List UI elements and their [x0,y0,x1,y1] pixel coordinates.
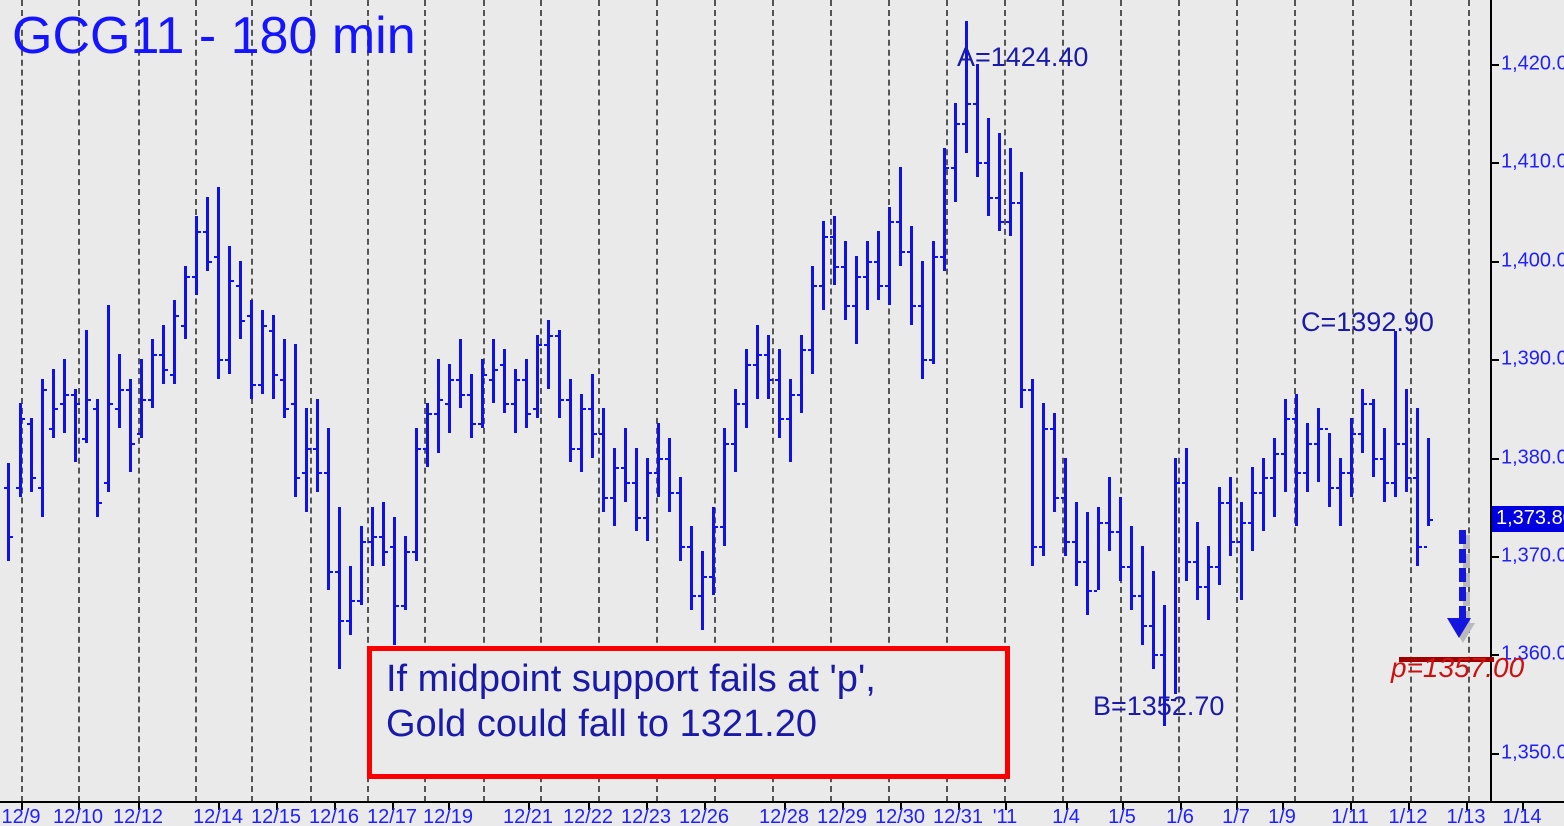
gridline-vertical [195,0,197,802]
y-axis-tick [1492,162,1499,164]
ohlc-bar [1427,438,1430,527]
ohlc-bar [1240,502,1243,600]
ohlc-close-tick [1265,477,1268,479]
ohlc-close-tick [1430,519,1433,521]
ohlc-bar [1174,458,1177,694]
ohlc-close-tick [814,285,817,287]
ohlc-open-tick [456,379,459,381]
ohlc-close-tick [407,551,410,553]
ohlc-bar [1042,403,1045,556]
ohlc-close-tick [1034,546,1037,548]
ohlc-close-tick [902,251,905,253]
ohlc-close-tick [924,359,927,361]
ohlc-bar [624,428,627,502]
gridline-vertical [251,0,253,802]
ohlc-bar [1119,497,1122,581]
ohlc-close-tick [198,231,201,233]
ohlc-open-tick [1270,477,1273,479]
gridline-vertical [1062,0,1064,802]
y-axis-label: 1,390.00 [1501,348,1564,371]
ohlc-bar [866,241,869,310]
ohlc-close-tick [110,403,113,405]
ohlc-bar [1086,512,1089,615]
ohlc-bar [107,305,110,492]
ohlc-bar [1317,408,1320,482]
ohlc-bar [283,339,286,418]
ohlc-close-tick [792,394,795,396]
ohlc-open-tick [1292,418,1295,420]
ohlc-close-tick [220,359,223,361]
ohlc-open-tick [786,418,789,420]
ohlc-bar [1108,477,1111,551]
ohlc-close-tick [1254,492,1257,494]
ohlc-close-tick [704,576,707,578]
ohlc-open-tick [324,472,327,474]
ohlc-bar [558,330,561,419]
ohlc-close-tick [495,369,498,371]
ohlc-bar [294,344,297,497]
gridline-vertical [310,0,312,802]
ohlc-open-tick [236,285,239,287]
ohlc-open-tick [841,266,844,268]
ohlc-close-tick [1287,418,1290,420]
ohlc-bar [679,477,682,561]
y-axis-tick [1492,458,1499,460]
ohlc-bar [1009,148,1012,237]
x-axis-label: '11 [993,806,1018,826]
ohlc-close-tick [440,399,443,401]
ohlc-open-tick [71,394,74,396]
ohlc-close-tick [968,103,971,105]
ohlc-close-tick [275,374,278,376]
ohlc-close-tick [1155,654,1158,656]
ohlc-close-tick [880,285,883,287]
ohlc-bar [173,300,176,384]
ohlc-bar [52,369,55,438]
ohlc-close-tick [1276,453,1279,455]
ohlc-close-tick [748,364,751,366]
ohlc-bar [1031,379,1034,566]
ohlc-bar [228,246,231,374]
ohlc-close-tick [66,394,69,396]
ohlc-bar [767,335,770,399]
ohlc-close-tick [297,477,300,479]
y-axis-tick [1492,359,1499,361]
ohlc-open-tick [181,325,184,327]
ohlc-open-tick [1347,472,1350,474]
ohlc-open-tick [907,251,910,253]
ohlc-open-tick [489,379,492,381]
ohlc-close-tick [1199,586,1202,588]
y-axis-label: 1,370.00 [1501,544,1564,567]
ohlc-open-tick [819,285,822,287]
ohlc-close-tick [506,403,509,405]
gridline-vertical [1236,0,1238,802]
ohlc-bar [954,103,957,201]
ohlc-open-tick [346,620,349,622]
ohlc-close-tick [1012,202,1015,204]
ohlc-close-tick [484,374,487,376]
ohlc-close-tick [286,408,289,410]
ohlc-close-tick [176,315,179,317]
ohlc-close-tick [1078,561,1081,563]
ohlc-open-tick [423,448,426,450]
ohlc-close-tick [429,413,432,415]
ohlc-open-tick [1413,477,1416,479]
ohlc-open-tick [687,546,690,548]
gridline-vertical [1352,0,1354,802]
ohlc-close-tick [825,236,828,238]
ohlc-open-tick [1259,492,1262,494]
ohlc-bar [85,330,88,443]
ohlc-open-tick [1028,389,1031,391]
ohlc-open-tick [170,374,173,376]
ohlc-bar [1328,433,1331,507]
ohlc-close-tick [1001,221,1004,223]
ohlc-bar [756,325,759,399]
ohlc-close-tick [737,403,740,405]
ohlc-close-tick [550,335,553,337]
ohlc-open-tick [1204,586,1207,588]
ohlc-close-tick [462,394,465,396]
ohlc-open-tick [1248,522,1251,524]
ohlc-open-tick [808,349,811,351]
ohlc-bar [723,428,726,546]
ohlc-bar [745,349,748,428]
ohlc-bar [217,187,220,379]
gridline-vertical [1178,0,1180,802]
ohlc-open-tick [1127,566,1130,568]
ohlc-open-tick [1039,546,1042,548]
arrow-shaft [1459,530,1466,620]
ohlc-open-tick [599,433,602,435]
ohlc-bar [492,339,495,403]
ohlc-bar [151,339,154,408]
ohlc-open-tick [962,123,965,125]
ohlc-open-tick [225,359,228,361]
x-axis-label: 12/29 [817,806,867,826]
ohlc-close-tick [847,305,850,307]
ohlc-close-tick [231,280,234,282]
ohlc-open-tick [1149,625,1152,627]
ohlc-bar [734,389,737,473]
ohlc-close-tick [594,433,597,435]
ohlc-close-tick [1298,472,1301,474]
ohlc-open-tick [511,403,514,405]
ohlc-bar [1273,438,1276,517]
ohlc-close-tick [682,546,685,548]
y-axis-label: 1,380.00 [1501,446,1564,469]
ohlc-bar [822,221,825,310]
ohlc-open-tick [137,433,140,435]
ohlc-open-tick [1424,546,1427,548]
ohlc-open-tick [269,330,272,332]
ohlc-bar [30,418,33,492]
ohlc-close-tick [517,379,520,381]
ohlc-close-tick [253,384,256,386]
ohlc-bar [261,310,264,394]
ohlc-open-tick [940,256,943,258]
x-axis-label: 12/26 [679,806,729,826]
ohlc-open-tick [720,526,723,528]
ohlc-open-tick [1193,561,1196,563]
ohlc-bar [657,423,660,497]
ohlc-close-tick [44,389,47,391]
ohlc-bar [63,359,66,433]
ohlc-open-tick [1237,541,1240,543]
ohlc-close-tick [1111,531,1114,533]
ohlc-close-tick [1342,472,1345,474]
last-price-badge: 1,373.80 [1492,506,1564,532]
chart-root: 1,420.001,410.001,400.001,390.001,380.00… [0,0,1564,826]
ohlc-close-tick [1353,433,1356,435]
ohlc-open-tick [258,384,261,386]
ohlc-close-tick [165,369,168,371]
ohlc-close-tick [616,467,619,469]
ohlc-open-tick [731,443,734,445]
ohlc-close-tick [10,536,13,538]
ohlc-open-tick [401,605,404,607]
ohlc-open-tick [126,389,129,391]
ohlc-bar [162,325,165,384]
ohlc-open-tick [522,379,525,381]
ohlc-open-tick [1303,472,1306,474]
ohlc-bar [591,374,594,458]
x-axis-label: 1/12 [1389,806,1428,826]
ohlc-open-tick [621,467,624,469]
ohlc-close-tick [330,571,333,573]
x-axis-label: 1/6 [1166,806,1194,826]
ohlc-close-tick [946,167,949,169]
point-a-label: A=1424.40 [957,42,1088,73]
ohlc-bar [41,379,44,517]
ohlc-close-tick [1045,428,1048,430]
point-b-label: B=1352.70 [1093,691,1224,722]
ohlc-open-tick [1325,428,1328,430]
ohlc-bar [668,438,671,512]
ohlc-close-tick [627,482,630,484]
ohlc-bar [195,216,198,295]
ohlc-open-tick [1391,482,1394,484]
ohlc-close-tick [1089,590,1092,592]
ohlc-open-tick [247,315,250,317]
ohlc-close-tick [319,472,322,474]
ohlc-open-tick [665,458,668,460]
ohlc-close-tick [1023,389,1026,391]
arrow-head [1447,618,1471,638]
ohlc-open-tick [291,403,294,405]
ohlc-open-tick [159,354,162,356]
ohlc-open-tick [918,305,921,307]
ohlc-close-tick [88,399,91,401]
ohlc-open-tick [214,256,217,258]
ohlc-bar [382,502,385,566]
ohlc-close-tick [957,123,960,125]
ohlc-close-tick [803,349,806,351]
ohlc-close-tick [715,526,718,528]
ohlc-close-tick [1232,541,1235,543]
ohlc-open-tick [984,162,987,164]
ohlc-open-tick [203,231,206,233]
ohlc-open-tick [390,546,393,548]
ohlc-bar [1251,467,1254,551]
ohlc-close-tick [759,354,762,356]
ohlc-open-tick [60,403,63,405]
ohlc-open-tick [104,482,107,484]
ohlc-bar [437,359,440,452]
ohlc-close-tick [187,276,190,278]
ohlc-close-tick [990,197,993,199]
x-axis-label: 1/4 [1052,806,1080,826]
ohlc-close-tick [121,389,124,391]
x-axis-label: 12/21 [503,806,553,826]
ohlc-bar [7,463,10,561]
x-axis-label: 1/13 [1447,806,1486,826]
ohlc-open-tick [566,399,569,401]
ohlc-close-tick [913,305,916,307]
ohlc-open-tick [753,364,756,366]
ohlc-close-tick [352,600,355,602]
x-axis-label: 1/11 [1331,806,1368,826]
x-axis-label: 12/23 [621,806,671,826]
ohlc-open-tick [302,472,305,474]
y-axis-tick [1492,261,1499,263]
y-axis-tick [1492,64,1499,66]
ohlc-open-tick [1358,433,1361,435]
gridline-vertical [1120,0,1122,802]
ohlc-bar [1075,502,1078,586]
ohlc-bar [932,241,935,364]
ohlc-close-tick [660,458,663,460]
ohlc-close-tick [891,221,894,223]
y-axis-label: 1,420.00 [1501,52,1564,75]
point-c-label: C=1392.90 [1301,307,1434,338]
callout-box: If midpoint support fails at 'p', Gold c… [367,646,1010,779]
ohlc-bar [855,256,858,345]
ohlc-close-tick [1397,443,1400,445]
ohlc-close-tick [363,541,366,543]
ohlc-open-tick [1314,443,1317,445]
x-axis-label: 12/14 [193,806,243,826]
ohlc-bar [1207,546,1210,620]
ohlc-open-tick [863,276,866,278]
ohlc-open-tick [38,487,41,489]
ohlc-bar [701,551,704,630]
ohlc-close-tick [1144,625,1147,627]
ohlc-open-tick [1072,541,1075,543]
x-axis-label: 12/9 [2,806,41,826]
ohlc-open-tick [93,408,96,410]
ohlc-bar [448,364,451,433]
ohlc-bar [118,354,121,428]
ohlc-open-tick [49,428,52,430]
ohlc-bar [1394,331,1397,497]
ohlc-close-tick [154,354,157,356]
ohlc-bar [1295,394,1298,527]
ohlc-open-tick [995,197,998,199]
ohlc-bar [305,408,308,511]
ohlc-close-tick [1133,595,1136,597]
ohlc-bar [338,507,341,669]
ohlc-close-tick [22,418,25,420]
ohlc-close-tick [1386,482,1389,484]
ohlc-open-tick [467,394,470,396]
ohlc-open-tick [610,497,613,499]
ohlc-open-tick [742,403,745,405]
ohlc-open-tick [544,344,547,346]
ohlc-open-tick [797,394,800,396]
ohlc-open-tick [280,379,283,381]
ohlc-close-tick [451,379,454,381]
x-axis-label: 12/10 [53,806,103,826]
ohlc-bar [1339,458,1342,527]
ohlc-open-tick [1083,561,1086,563]
ohlc-open-tick [973,103,976,105]
ohlc-open-tick [1226,502,1229,504]
ohlc-close-tick [143,399,146,401]
ohlc-open-tick [1061,497,1064,499]
ohlc-open-tick [654,472,657,474]
ohlc-bar [1372,399,1375,478]
ohlc-bar [327,428,330,590]
ohlc-open-tick [148,399,151,401]
ohlc-bar [1416,408,1419,565]
ohlc-bar [789,379,792,463]
ohlc-open-tick [4,487,7,489]
ohlc-close-tick [781,418,784,420]
ohlc-open-tick [709,576,712,578]
ohlc-open-tick [434,413,437,415]
ohlc-bar [1097,507,1100,591]
ohlc-open-tick [1215,566,1218,568]
x-axis-label: 12/16 [309,806,359,826]
ohlc-bar [206,197,209,271]
ohlc-open-tick [885,285,888,287]
ohlc-bar [1130,526,1133,610]
ohlc-bar [1350,418,1353,497]
ohlc-close-tick [1100,522,1103,524]
ohlc-bar [811,266,814,374]
ohlc-close-tick [1419,546,1422,548]
ohlc-close-tick [770,379,773,381]
ohlc-bar [1196,522,1199,601]
x-axis-label: 12/15 [251,806,301,826]
ohlc-open-tick [1138,595,1141,597]
ohlc-open-tick [1380,458,1383,460]
x-axis-label: 12/22 [563,806,613,826]
ohlc-close-tick [649,472,652,474]
ohlc-close-tick [77,403,80,405]
ohlc-bar [525,359,528,428]
x-axis-line [0,801,1564,803]
ohlc-close-tick [572,448,575,450]
ohlc-open-tick [775,379,778,381]
ohlc-bar [239,261,242,340]
ohlc-bar [635,448,638,532]
ohlc-open-tick [1281,453,1284,455]
ohlc-open-tick [500,364,503,366]
ohlc-close-tick [979,162,982,164]
ohlc-bar [1229,477,1232,556]
ohlc-bar [569,379,572,463]
y-axis-label: 1,410.00 [1501,151,1564,174]
y-axis-label: 1,400.00 [1501,249,1564,272]
ohlc-bar [74,389,77,463]
ohlc-close-tick [1408,477,1411,479]
ohlc-close-tick [693,595,696,597]
ohlc-bar [481,359,484,428]
ohlc-open-tick [896,221,899,223]
